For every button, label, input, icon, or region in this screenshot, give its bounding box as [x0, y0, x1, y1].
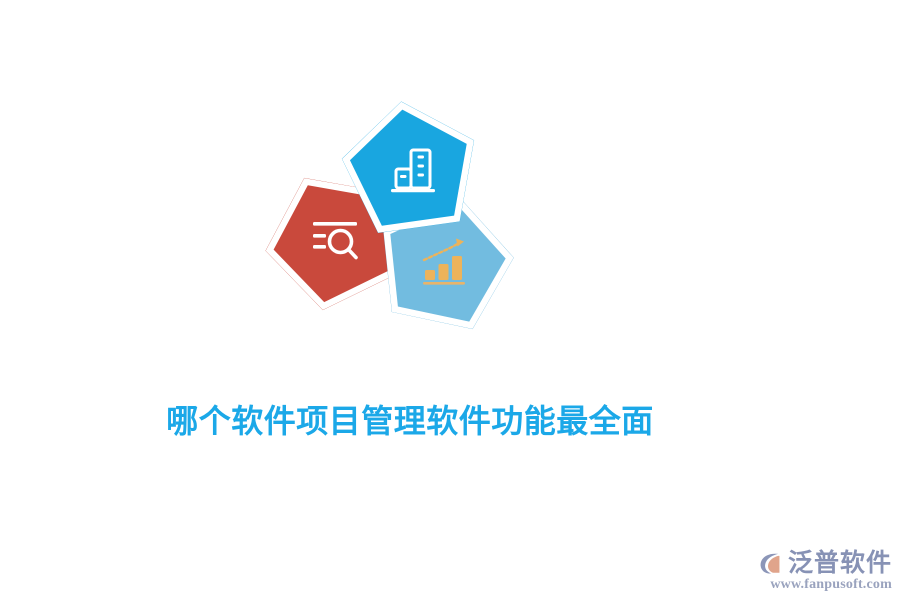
- pentagon-cluster-illustration: [265, 95, 525, 345]
- page-canvas: 哪个软件项目管理软件功能最全面 泛普软件 www.fanpusoft.com: [0, 0, 900, 600]
- brand-url: www.fanpusoft.com: [770, 578, 892, 592]
- brand-name: 泛普软件: [788, 551, 892, 576]
- fanpu-swoosh-logo-icon: [758, 550, 784, 576]
- brand-watermark: 泛普软件 www.fanpusoft.com: [758, 550, 892, 592]
- brand-lockup: 泛普软件: [758, 550, 892, 576]
- page-title: 哪个软件项目管理软件功能最全面: [0, 398, 820, 444]
